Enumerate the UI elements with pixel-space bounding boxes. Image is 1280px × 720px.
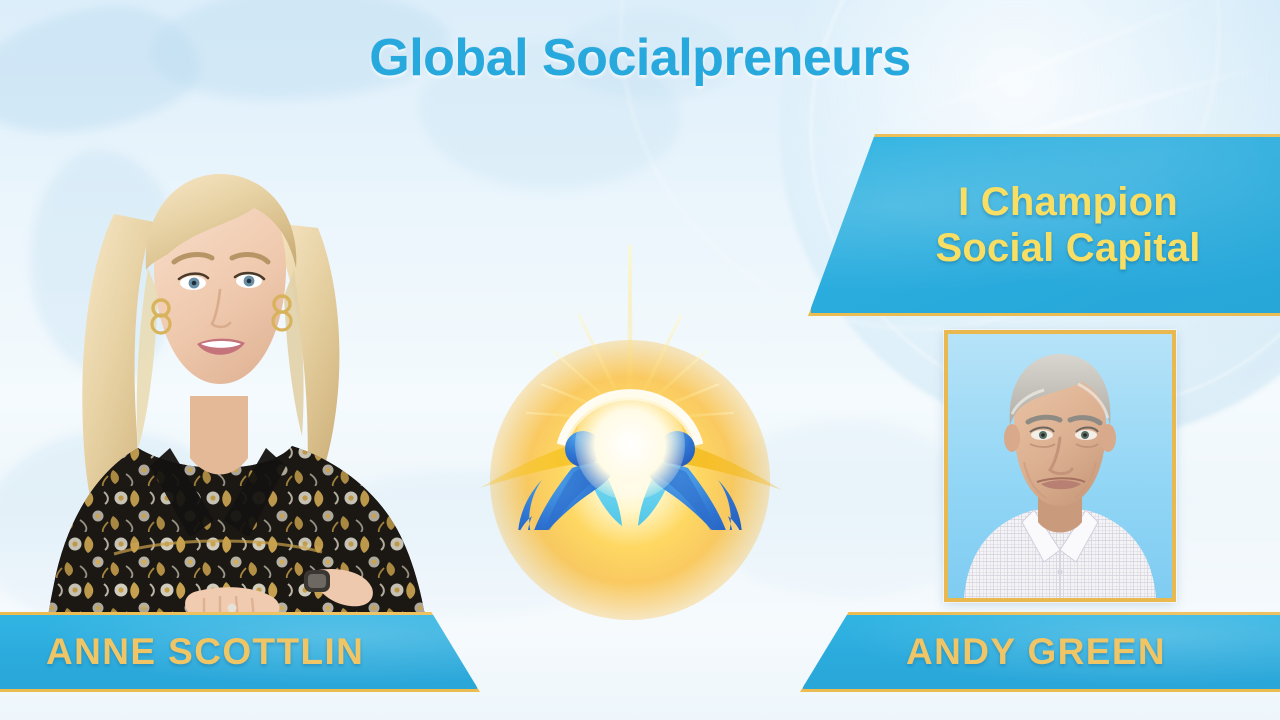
page-title: Global Socialpreneurs [0, 28, 1280, 88]
andy-portrait-graphic [948, 334, 1172, 598]
nameplate-andy-green: ANDY GREEN [800, 612, 1280, 692]
guest-portrait-anne-scottlin [18, 118, 448, 658]
tagline-text: I Champion Social Capital [808, 134, 1280, 316]
broadcast-stage: Global Socialpreneurs [0, 0, 1280, 720]
sun-core [575, 390, 685, 500]
guest-portrait-andy-green [944, 330, 1176, 602]
nameplate-anne-scottlin: ANNE SCOTTLIN [0, 612, 480, 692]
neck [190, 396, 248, 475]
guest-name-label: ANNE SCOTTLIN [0, 612, 480, 692]
global-socialpreneurs-logo [470, 240, 790, 530]
anne-portrait-graphic [18, 118, 448, 658]
tagline-line-1: I Champion [958, 179, 1178, 225]
tagline-line-2: Social Capital [935, 225, 1200, 271]
tagline-banner: I Champion Social Capital [808, 134, 1280, 316]
guest-name-label: ANDY GREEN [800, 612, 1280, 692]
